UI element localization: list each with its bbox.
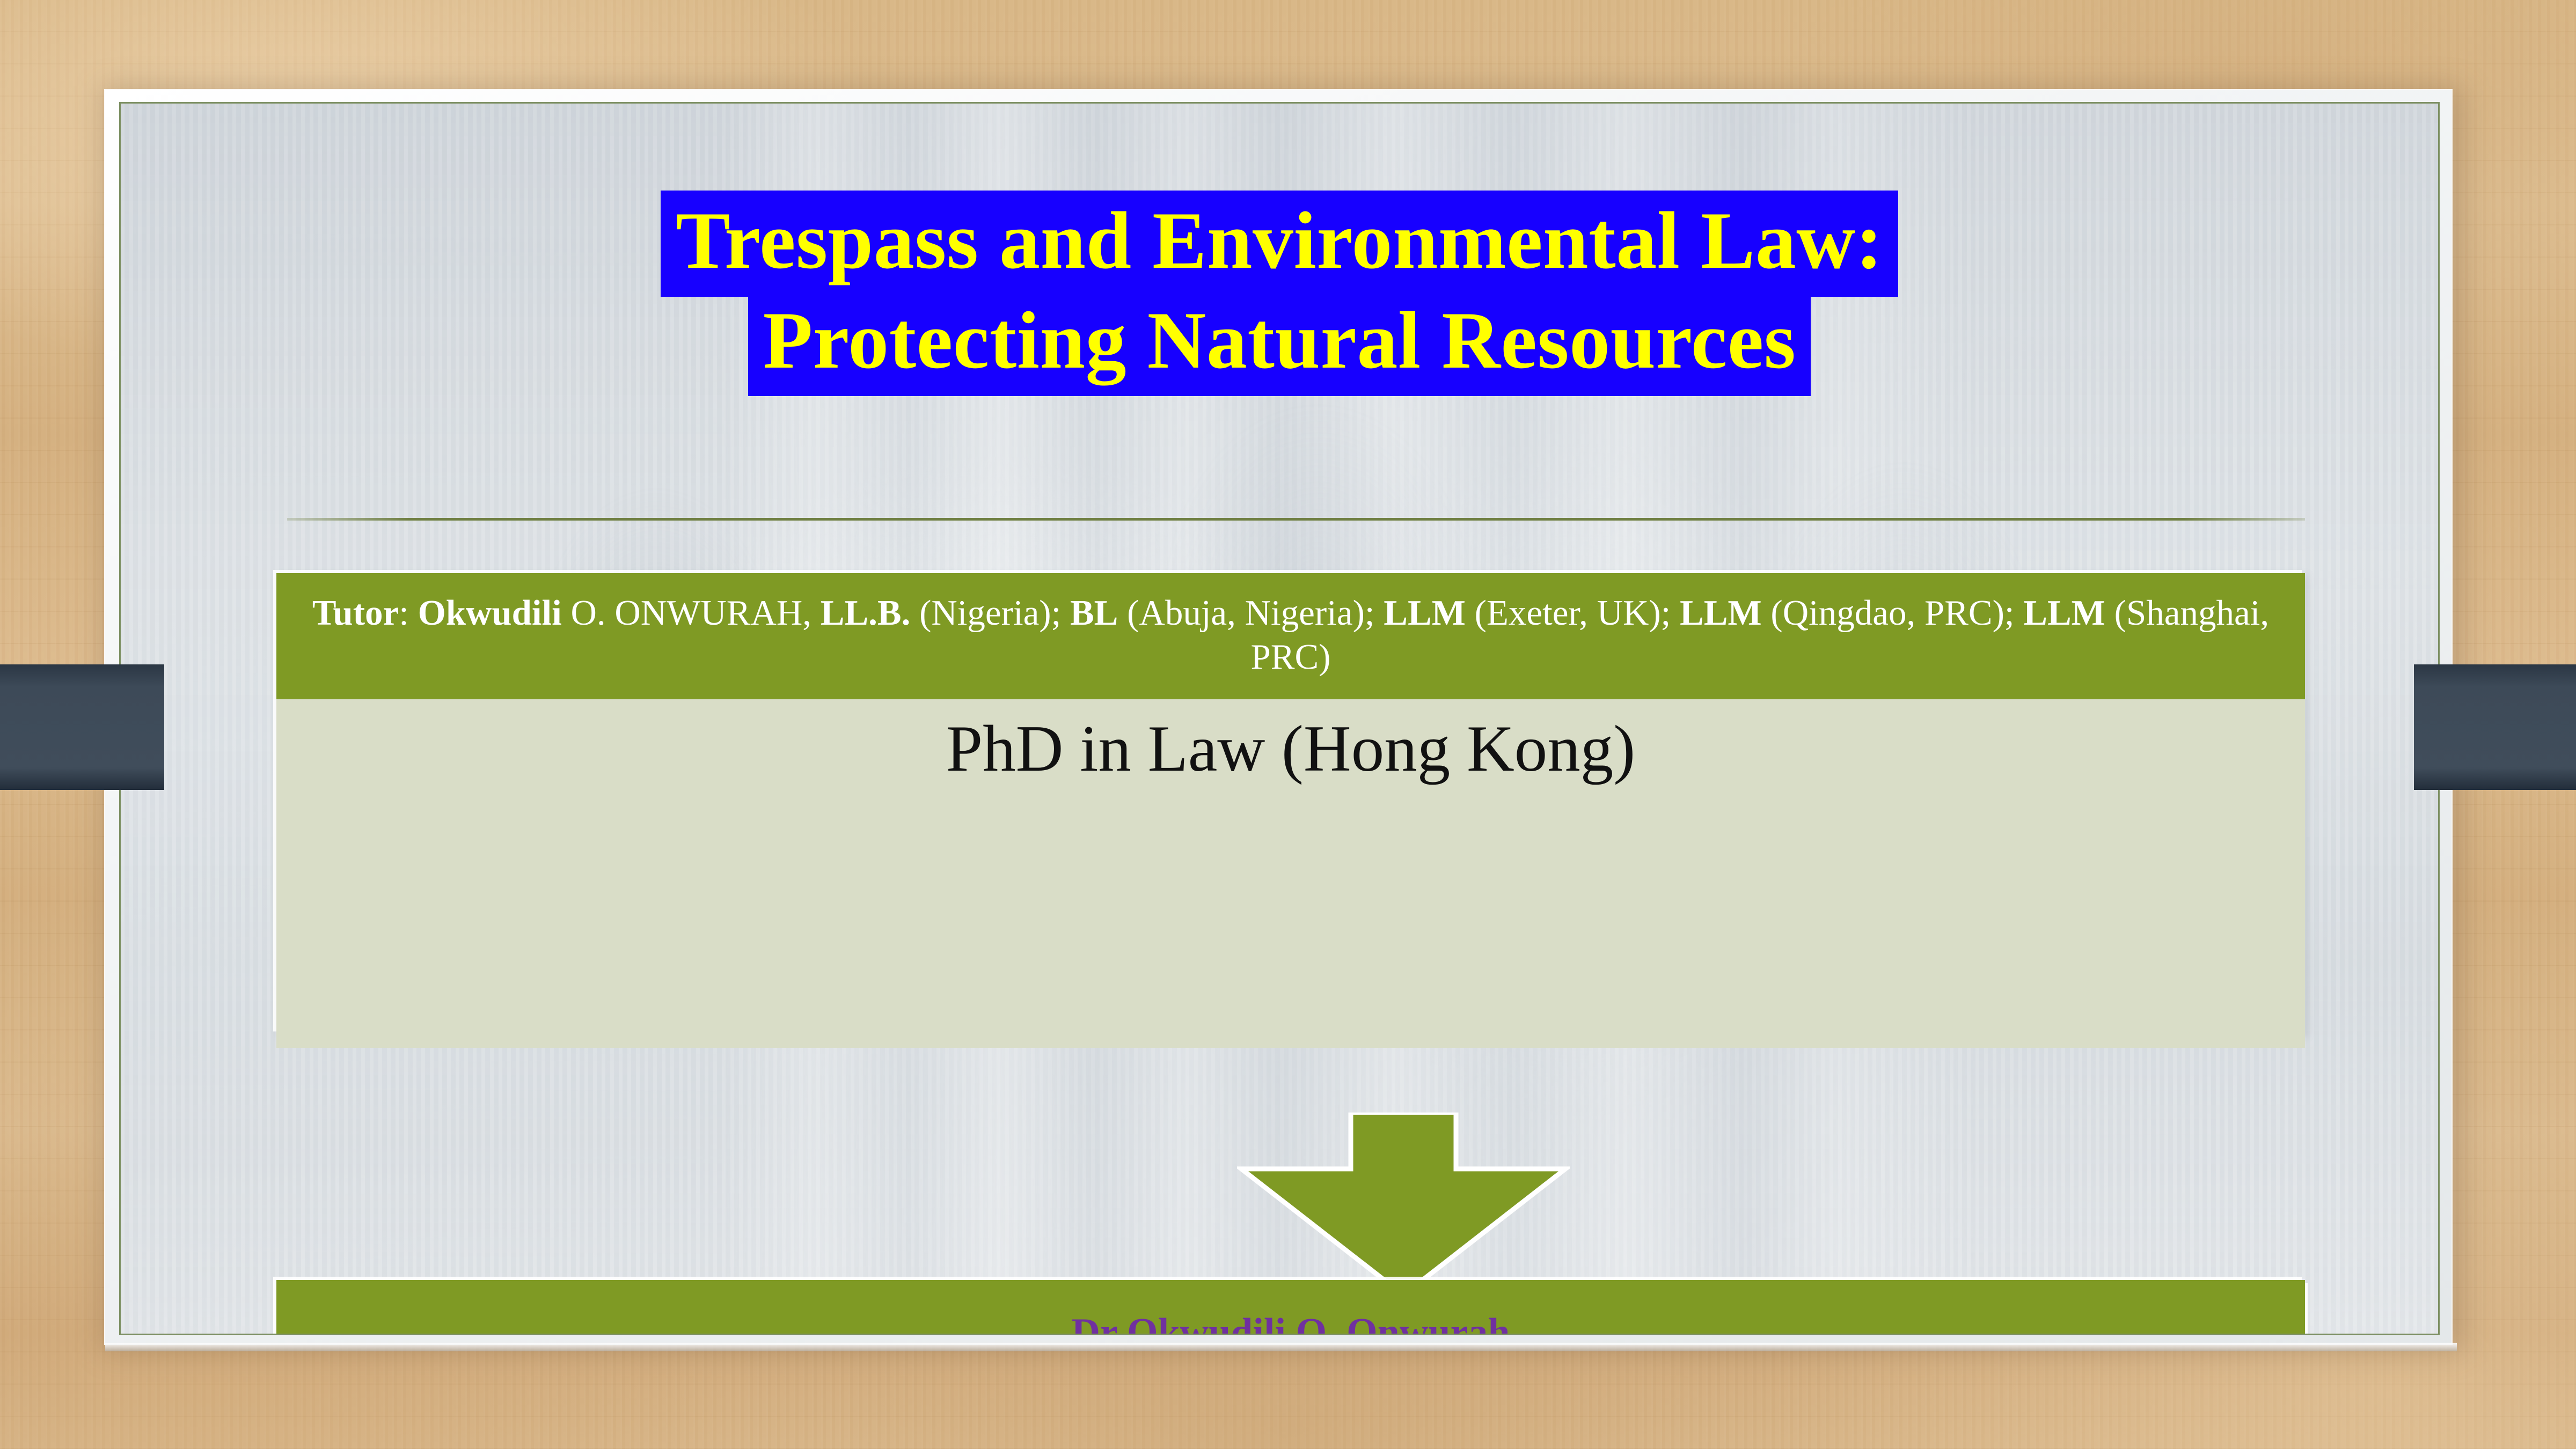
qualification-degree-4: LLM	[2023, 593, 2105, 633]
doctorate-block: PhD in Law (Hong Kong)	[276, 699, 2305, 1048]
title-line-2: Protecting Natural Resources	[748, 290, 1811, 397]
title-line-1: Trespass and Environmental Law:	[661, 191, 1898, 297]
author-name: Dr Okwudili O. Onwurah	[276, 1310, 2305, 1335]
right-dark-block	[2414, 664, 2576, 790]
qualification-degree-2: LLM	[1384, 593, 1466, 633]
qualification-place-3: (Qingdao, PRC);	[1762, 593, 2024, 633]
slide-screenshot: Trespass and Environmental Law: Protecti…	[0, 0, 2576, 1449]
tutor-separator: :	[399, 593, 418, 633]
tutor-credentials-block: Tutor: Okwudili O. ONWURAH, LL.B. (Niger…	[276, 573, 2305, 699]
qualification-place-2: (Exeter, UK);	[1466, 593, 1680, 633]
tutor-first-name: Okwudili	[418, 593, 562, 633]
tutor-surname: O. ONWURAH,	[562, 593, 821, 633]
left-dark-block	[0, 664, 164, 790]
tutor-label: Tutor	[312, 593, 399, 633]
qualification-degree-3: LLM	[1680, 593, 1762, 633]
qualification-degree-1: BL	[1070, 593, 1118, 633]
title-divider-line	[287, 518, 2305, 521]
content-panel: Tutor: Okwudili O. ONWURAH, LL.B. (Niger…	[276, 573, 2305, 1035]
qualification-degree-0: LL.B.	[821, 593, 911, 633]
slide-canvas: Trespass and Environmental Law: Protecti…	[119, 102, 2440, 1335]
down-arrow-icon	[1237, 1113, 1570, 1298]
qualification-place-1: (Abuja, Nigeria);	[1118, 593, 1384, 633]
qualification-place-0: (Nigeria);	[910, 593, 1070, 633]
doctorate-text: PhD in Law (Hong Kong)	[276, 712, 2305, 785]
down-arrow-shape	[1237, 1113, 1570, 1298]
slide-title: Trespass and Environmental Law: Protecti…	[121, 191, 2438, 396]
author-bar: Dr Okwudili O. Onwurah	[276, 1280, 2305, 1335]
